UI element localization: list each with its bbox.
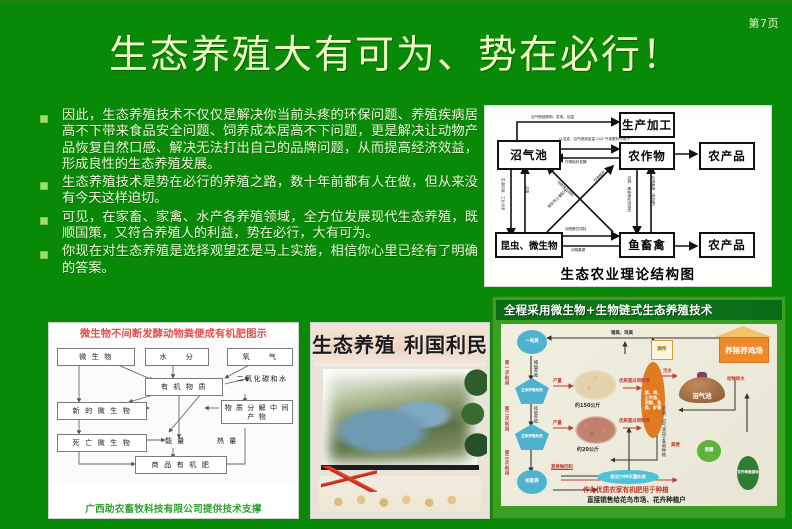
list-item: 你现在对生态养殖是选择观望还是马上实施，相信你心里已经有了明确的答案。: [36, 244, 478, 277]
flow-node-energy: 能 量: [165, 436, 186, 446]
chain-node-toilet: 厕所: [651, 340, 673, 360]
flow-node-new-microbes: 新 的 微 生 物: [57, 402, 147, 420]
chain-stage-third: 第三次利用: [503, 450, 509, 476]
chain-label-amount-2: 约20公斤: [577, 446, 599, 453]
chain-label-protein-feed-1: 优质蛋白饲料喂: [619, 378, 650, 384]
eco-edge-label-crops-to-biogas: 作物秸秆发酵: [565, 160, 587, 165]
microbe-fermentation-flowchart-image: 微生物不间断发酵动物粪便成有机肥图示: [48, 322, 299, 519]
eco-edge-label-biogas-to-livestock: 动物蛋白饲料: [565, 227, 587, 232]
chain-stage-first: 第一次利用: [503, 360, 509, 386]
bullet-list: 因此，生态养殖技术不仅仅是解决你当前头疼的环保问题、养殖疾病居高不下带来食品安全…: [36, 108, 478, 279]
chain-label-yield-2: 产量: [553, 420, 562, 426]
chain-label-yield-1: 产量: [553, 378, 562, 384]
lotus-leaf-graphic: [453, 361, 487, 481]
chain-label-amount-1: 约150公斤: [575, 402, 600, 409]
bullet-marker-icon: [40, 182, 48, 190]
bullet-text: 可见，在家畜、家禽、水产各养殖领域，全方位发展现代生态养殖，既顺国策，又符合养殖…: [62, 210, 478, 243]
eco-node-biogas: 沼气池: [497, 140, 561, 170]
chain-label-biogas-slurry: 沼渣、沼气液用于基地种植: [661, 406, 667, 456]
flow-node-water: 水 分: [145, 348, 209, 366]
flow-node-heat: 热 量: [217, 436, 238, 446]
eco-edge-label-livestock-to-insects: 动物粪便: [571, 248, 585, 253]
list-item: 因此，生态养殖技术不仅仅是解决你当前头疼的环保问题、养殖疾病居高不下带来食品安全…: [36, 108, 478, 173]
flow-node-decomposition: 物 质 分 解 中 间 产 物: [221, 400, 293, 424]
chain-node-black-fly: 黑膜: [697, 440, 721, 462]
eco-edge-label-biogas-to-production: 沼气燃烧照明、发电、加温: [531, 115, 574, 120]
chain-label-direct-return: 直接做回料: [551, 464, 573, 470]
chain-label-manure-top: 猪粪、鸡粪: [611, 330, 633, 336]
bullet-marker-icon: [40, 251, 48, 259]
flow-node-co2-water: 二氧化碳和水: [231, 374, 293, 383]
bullet-text: 生态养殖技术是势在必行的养殖之路，数十年前都有人在做，但从来没有今天这样迫切。: [62, 175, 478, 208]
poster-title: 生态养殖 利国利民: [311, 329, 489, 358]
bio-chain-eco-farming-diagram-image: 全程采用微生物+生物链式生态养殖技术: [492, 296, 786, 519]
chain-stage-second: 第二次利用: [503, 406, 509, 432]
chain-label-breed-1: 蝇蛆养殖: [533, 360, 539, 377]
eco-node-production: 生产加工: [619, 112, 675, 138]
sterilization-badge: 经活力99灭菌处理: [597, 470, 659, 484]
bullet-text: 你现在对生态养殖是选择观望还是马上实施，相信你心里已经有了明确的答案。: [62, 244, 478, 277]
bullet-marker-icon: [40, 115, 48, 123]
flowchart-header: 微生物不间断发酵动物粪便成有机肥图示: [49, 325, 298, 340]
flow-node-microbes: 微 生 物: [57, 348, 135, 366]
flow-node-dead-microbes: 死 亡 微 生 物: [57, 434, 147, 452]
eco-node-crops: 农作物: [619, 142, 675, 170]
bullet-marker-icon: [40, 217, 48, 225]
chain-label-direct-sale-line: 直接销售给花鸟市场、花卉种植户: [587, 494, 686, 504]
chain-node-earthworm-manure: 蚯蚓粪: [517, 470, 547, 494]
chain-label-breed-2: 蚯蚓养殖: [533, 406, 539, 423]
chain-diagram-body: 第一次利用 第二次利用 第三次利用 一吨粪 立体养殖利用 立体养殖利用 蚯蚓粪 …: [501, 324, 777, 506]
eco-node-produce-bottom: 农产品: [699, 232, 755, 258]
flow-node-fertilizer: 商 品 有 机 肥: [135, 456, 227, 474]
chain-label-animal-urine: 动物尿水: [727, 376, 745, 382]
eco-edge-label-biogas-down-right: 沼渣: [524, 186, 529, 193]
eco-agriculture-diagram-image: 沼气池 生产加工 农作物 农产品 昆虫、微生物 鱼畜禽 农产品 沼气燃烧照明、发…: [484, 105, 772, 287]
slide-canvas: 第7页 生态养殖大有可为、势在必行！ 因此，生态养殖技术不仅仅是解决你当前头疼的…: [0, 0, 792, 529]
eco-diagram-caption: 生态农业理论结构图: [485, 263, 771, 283]
eco-node-livestock: 鱼畜禽: [619, 232, 675, 258]
chain-banner-text: 全程采用微生物+生物链式生态养殖技术: [504, 302, 713, 318]
chain-node-one-ton-manure: 一吨粪: [517, 330, 547, 354]
flowchart-body: 微 生 物 水 分 氧 气 有 机 物 质 二氧化碳和水 新 的 微 生 物 物…: [49, 340, 298, 482]
maggot-pile-graphic: [573, 370, 617, 400]
red-fish-graphic: [321, 466, 377, 492]
chain-node-flower-market: 花卉种植基地: [737, 456, 759, 490]
flow-node-oxygen: 氧 气: [227, 348, 293, 366]
eco-edge-label-biogas-to-crops: 以沼渣、沼气燃烧加温 CO2 气体肥料作用于: [559, 137, 630, 142]
bullet-text: 因此，生态养殖技术不仅仅是解决你当前头疼的环保问题、养殖疾病居高不下带来食品安全…: [62, 108, 478, 173]
eco-node-insects: 昆虫、微生物: [495, 232, 563, 258]
flow-node-organic-matter: 有 机 物 质: [145, 378, 223, 396]
eco-edge-label-crops-to-livestock: 饲草、粮食等动物饲料: [626, 176, 631, 212]
eco-edge-label-biogas-down-left: 生活垃圾、工业污泥: [500, 178, 505, 210]
eco-farming-poster-image: 生态养殖 利国利民: [310, 322, 490, 519]
page-title: 生态养殖大有可为、势在必行！: [0, 33, 792, 79]
slide-top-edge: [0, 0, 792, 3]
chain-label-organic-fertilizer-line: 作为优质农家有机肥用于种植: [583, 484, 669, 494]
list-item: 生态养殖技术是势在必行的养殖之路，数十年前都有人在做，但从来没有今天这样迫切。: [36, 175, 478, 208]
chain-label-manure-bottom: 粪便: [671, 442, 680, 448]
page-number: 第7页: [749, 15, 780, 31]
list-item: 可见，在家畜、家禽、水产各养殖领域，全方位发展现代生态养殖，既顺国策，又符合养殖…: [36, 210, 478, 243]
eco-node-produce-top: 农产品: [699, 142, 755, 170]
flowchart-footer: 广西助农畜牧科技有限公司提供技术支撑: [49, 501, 298, 515]
chain-diagram-banner: 全程采用微生物+生物链式生态养殖技术: [496, 300, 782, 320]
earthworm-pile-graphic: [575, 416, 617, 444]
chain-label-sewage: 污水: [663, 368, 672, 374]
chain-label-protein-feed-2: 优质蛋白饲料喂: [619, 418, 650, 424]
eco-edge-label-livestock-to-crops: 动物粪便（有机肥）: [650, 176, 655, 208]
chain-node-farm: 养猪养鸡场: [719, 337, 769, 363]
